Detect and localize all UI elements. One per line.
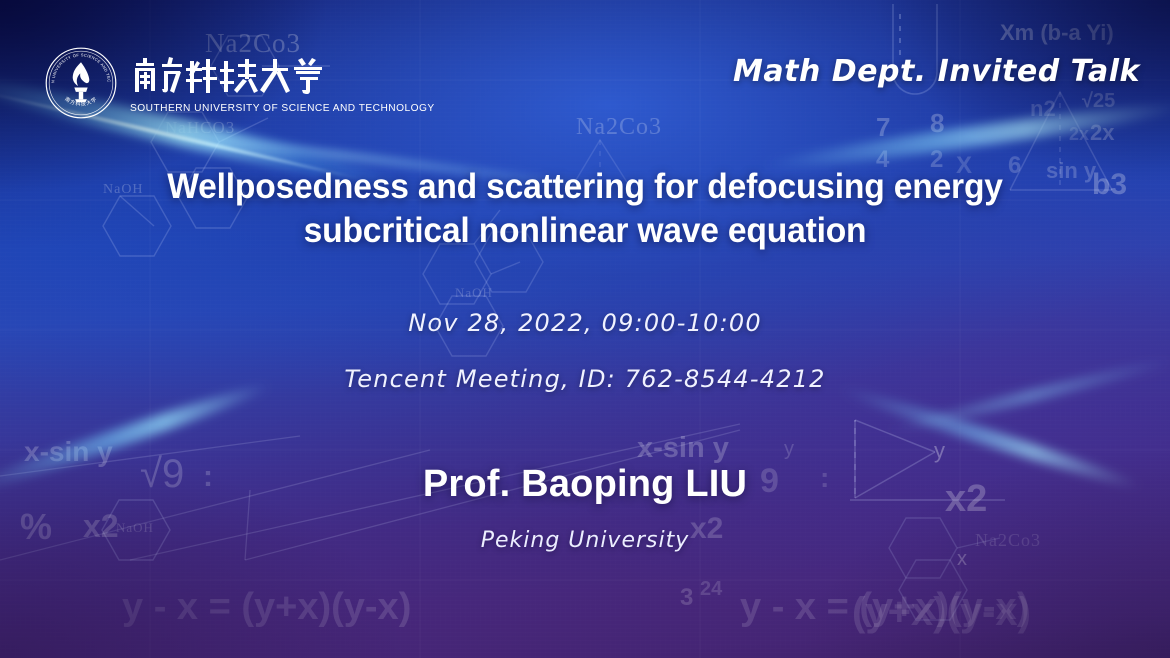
bg-math-sqrt25: √25 — [1082, 90, 1115, 113]
talk-title: Wellposedness and scattering for defocus… — [23, 165, 1146, 253]
bg-math-n2: n2 — [1030, 96, 1056, 122]
speaker-name: Prof. Baoping LIU — [0, 463, 1170, 506]
talk-meeting-id: Tencent Meeting, ID: 762-8544-4212 — [0, 362, 1170, 396]
bg-math-y-right: y — [934, 438, 945, 464]
talk-series-kicker: Math Dept. Invited Talk — [733, 54, 1140, 89]
university-logo: SOUTHERN UNIVERSITY OF SCIENCE AND TECHN… — [44, 46, 444, 120]
bg-math-y-center: y — [784, 438, 794, 461]
bg-chem-na2co3-right: Na2Co3 — [576, 114, 662, 141]
bg-math-seven: 7 — [876, 112, 890, 143]
seminar-poster: Na2Co3 NaHCO3 NaOH Na2Co3 NaOH NaOH Na2C… — [0, 0, 1170, 658]
bg-math-xsiny-center: x-sin y — [637, 432, 729, 465]
bg-math-identity-left: y - x = (y+x)(y-x) — [122, 586, 411, 629]
bg-math-2x-a: 2x — [1090, 120, 1114, 146]
bg-chem-naoh-center: NaOH — [455, 285, 493, 301]
light-streak-upper-right — [761, 96, 1170, 176]
bg-math-three: 3 — [680, 584, 693, 612]
logo-chinese-name — [130, 55, 444, 99]
speaker-affiliation: Peking University — [0, 528, 1170, 553]
sustech-torch-emblem-icon: SOUTHERN UNIVERSITY OF SCIENCE AND TECHN… — [44, 46, 118, 120]
logo-wordmark: SOUTHERN UNIVERSITY OF SCIENCE AND TECHN… — [130, 55, 444, 114]
bg-chem-nahco3: NaHCO3 — [165, 118, 235, 138]
talk-logistics: Nov 28, 2022, 09:00-10:00 Tencent Meetin… — [0, 306, 1170, 396]
bg-math-identity-corner: (y+x)(y-x) — [852, 590, 1031, 635]
bg-math-2x-b: 2x — [1069, 124, 1089, 145]
logo-english-name: SOUTHERN UNIVERSITY OF SCIENCE AND TECHN… — [130, 102, 435, 114]
bg-math-identity-right: y - x = (y+x)(y-x) — [740, 586, 1029, 629]
bg-math-eight: 8 — [930, 108, 944, 139]
bg-math-xm: Xm (b-a Yi) — [1000, 20, 1114, 46]
talk-datetime: Nov 28, 2022, 09:00-10:00 — [0, 306, 1170, 340]
bg-math-24: 24 — [700, 578, 722, 601]
